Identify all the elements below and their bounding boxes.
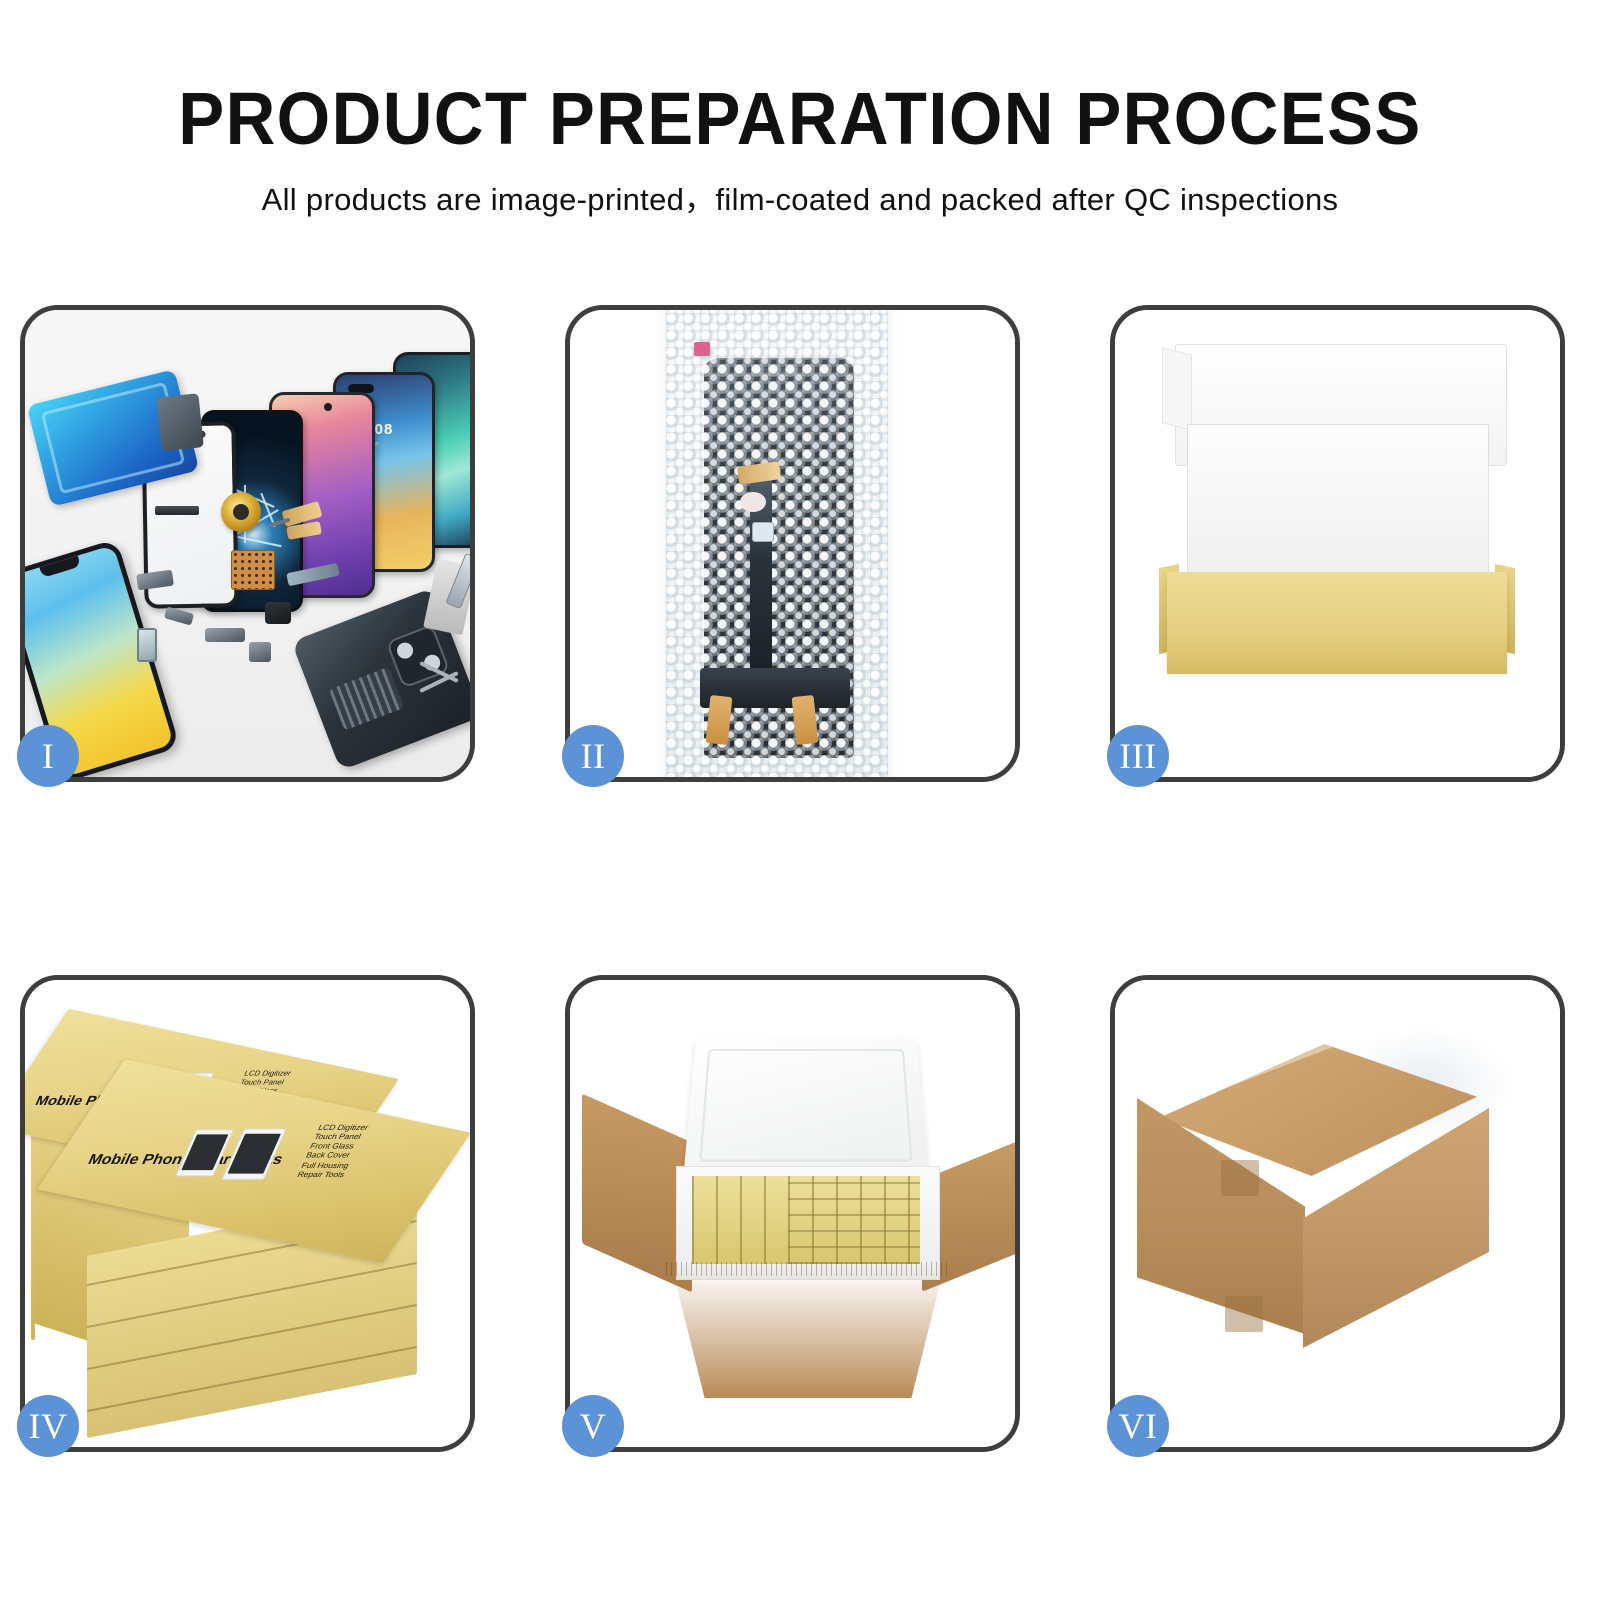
square-connector [752, 522, 774, 542]
small-connector-part-3 [205, 628, 245, 642]
bubble-wrap-bag [666, 310, 888, 777]
process-step-panel-4: Mobile Phone Spare Parts LCD Digitizer T… [20, 975, 475, 1452]
corrugated-carton-body [672, 1268, 944, 1398]
carton-tape-patch-bottom [1225, 1296, 1263, 1332]
small-connector-part-4 [249, 642, 271, 662]
ic-chip-part [231, 550, 275, 590]
page-title: PRODUCT PREPARATION PROCESS [56, 0, 1544, 156]
pink-qc-label [694, 342, 710, 356]
wireless-charging-coil [221, 492, 261, 532]
step-badge-1: I [17, 725, 79, 787]
white-foam-sheet [1187, 424, 1489, 578]
step-5-image [570, 980, 1015, 1447]
speaker-module-part [265, 602, 291, 624]
process-step-panel-1: 08:08 Fri, Mar [20, 305, 475, 782]
tweezers-part [418, 660, 464, 694]
round-connector [740, 492, 766, 512]
retail-box-stack: Mobile Phone Spare Parts LCD Digitizer T… [25, 980, 470, 1447]
earpiece-mesh-part [155, 506, 199, 515]
stack-edge [31, 1140, 35, 1340]
step-2-image [570, 310, 1015, 777]
step-6-image [1115, 980, 1560, 1447]
box-checklist: LCD Digitizer Touch Panel Front Glass Ba… [296, 1123, 370, 1179]
battery-part [329, 667, 405, 731]
yellow-retail-boxes-inside [692, 1176, 920, 1264]
checklist-item: Repair Tools [296, 1170, 350, 1179]
step-3-image [1115, 310, 1560, 777]
step-badge-3: III [1107, 725, 1169, 787]
white-foam-box-lid [683, 1037, 928, 1176]
process-step-panel-3: III [1110, 305, 1565, 782]
sim-tray-part [137, 628, 157, 662]
checklist-item: Touch Panel [312, 1132, 366, 1141]
yellow-mailer-box-front [1167, 628, 1507, 674]
carton-tape-patch-top [1221, 1160, 1259, 1196]
checklist-item: Full Housing [300, 1160, 354, 1169]
step-4-image: Mobile Phone Spare Parts LCD Digitizer T… [25, 980, 470, 1447]
phone-notch [39, 556, 80, 578]
step-1-image: 08:08 Fri, Mar [25, 310, 470, 777]
step-badge-6: VI [1107, 1395, 1169, 1457]
checklist-item: Back Cover [304, 1151, 358, 1160]
process-step-panel-2: II [565, 305, 1020, 782]
step-badge-4: IV [17, 1395, 79, 1457]
page-subtitle: All products are image-printed，film-coat… [0, 156, 1600, 215]
checklist-item: LCD Digitizer [317, 1123, 371, 1132]
checklist-item: LCD Digitizer [242, 1070, 292, 1079]
step-badge-2: II [562, 725, 624, 787]
page-header: PRODUCT PREPARATION PROCESS All products… [0, 0, 1600, 215]
step-badge-5: V [562, 1395, 624, 1457]
checklist-item: Front Glass [308, 1141, 362, 1150]
process-step-panel-5: V [565, 975, 1020, 1452]
process-step-panel-6: VI [1110, 975, 1565, 1452]
